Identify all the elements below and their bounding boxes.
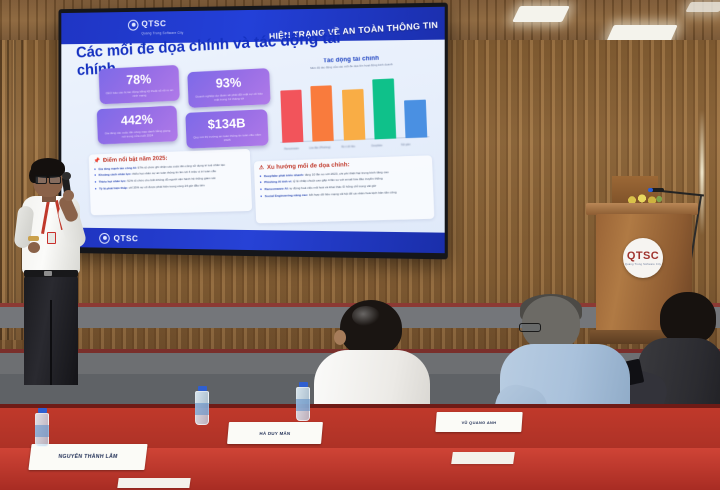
water-bottle	[195, 386, 209, 425]
chart-bar-column	[280, 78, 304, 143]
bullet-dot-icon: ●	[260, 181, 262, 186]
bullet-lead: Khoảng cách nhân lực:	[98, 172, 132, 177]
nameplate: HÀ DUY MẪN	[227, 422, 323, 444]
nameplate: VŨ QUANG ANH	[435, 412, 522, 432]
podium-badge-text: QTSC	[627, 250, 659, 262]
projection-screen: QTSC Quang Trung Software City HIỆN TRẠN…	[58, 3, 447, 260]
document-paper	[117, 478, 190, 488]
chart-bar-label: Rò rỉ dữ liệu	[335, 145, 362, 149]
footer-logo-wordmark: QTSC	[114, 233, 139, 243]
microphone-tip	[648, 188, 653, 192]
chart-bar	[372, 79, 396, 140]
wall-strip-light	[700, 110, 704, 235]
water-bottle	[296, 382, 310, 421]
ceiling-light-panel	[685, 2, 720, 12]
stat-card: $134B Quy mô thị trường an toàn thông ti…	[185, 109, 268, 148]
qtsc-logo: QTSC Quang Trung Software City	[128, 13, 184, 36]
podium-badge-subtext: Quang Trung Software City	[625, 263, 661, 266]
warning-icon: ⚠	[259, 165, 264, 171]
bullet-lead: Tỷ lệ phát hiện thấp:	[99, 186, 129, 191]
attendee-glasses-icon	[519, 323, 541, 332]
chart-bars	[280, 72, 427, 143]
stat-caption: Quy mô thị trường an toàn thông tin toàn…	[191, 132, 263, 143]
conference-room-scene: QTSC Quang Trung Software City HIỆN TRẠN…	[0, 0, 720, 490]
chart-bar-column	[403, 72, 427, 138]
chart-bar-label: Deepfake	[364, 144, 391, 148]
presenter-leg-split	[50, 300, 52, 385]
highlights-panel: 📌 Điểm nổi bật năm 2025: ●Gia tăng mạnh …	[89, 149, 252, 215]
stat-card: 442% Gia tăng các cuộc tấn công mạo danh…	[97, 106, 178, 145]
bottle-label	[35, 425, 49, 437]
bullet-lead: Phishing AI tinh vi:	[264, 180, 293, 185]
chart-bar-label: Lừa đảo (Phishing)	[307, 146, 333, 150]
bullet-lead: Deepfake phát triển nhanh:	[264, 172, 305, 177]
bottle-label	[296, 399, 310, 411]
nameplate: NGUYỄN THÀNH LÂM	[28, 444, 147, 470]
stat-caption: Gia tăng các cuộc tấn công mạo danh bằng…	[102, 128, 173, 139]
bullet-lead: Thiếu hụt nhân lực:	[99, 179, 128, 184]
bullet-lead: Gia tăng mạnh tấn công AI:	[98, 165, 137, 170]
highlights-bullet-list: ●Gia tăng mạnh tấn công AI: 57% tổ chức …	[94, 162, 246, 192]
attendee-hair-highlight	[352, 306, 380, 326]
chart-bar	[311, 85, 334, 141]
bullet-dot-icon: ●	[95, 187, 97, 192]
stat-caption: Doanh nghiệp dự đoán sẽ phải đối mặt sự …	[193, 91, 265, 103]
document-paper	[451, 452, 515, 464]
ceiling-light-panel	[512, 6, 570, 22]
chart-bar	[280, 89, 303, 143]
stat-value: 442%	[102, 112, 173, 130]
logo-ring-icon	[128, 19, 139, 30]
nameplate-name: NGUYỄN THÀNH LÂM	[58, 454, 118, 460]
chart-bar-column	[372, 73, 396, 139]
chart-bar-column	[341, 75, 365, 141]
stat-card: 78% CEO báo cáo bị tác động bằng kỹ thuậ…	[99, 65, 180, 104]
chart-bar	[341, 89, 364, 140]
bottle-body	[296, 387, 310, 421]
stat-card: 93% Doanh nghiệp dự đoán sẽ phải đối mặt…	[187, 68, 270, 108]
bullet-dot-icon: ●	[260, 187, 262, 192]
attendee-ear	[334, 330, 346, 345]
bottle-body	[195, 391, 209, 425]
nameplate-name: VŨ QUANG ANH	[461, 420, 496, 425]
water-bottle	[35, 408, 49, 447]
presenter-belt-buckle	[44, 271, 52, 276]
chart-bar	[404, 99, 427, 138]
threat-trends-panel: ⚠ Xu hướng mối đe dọa chính: ●Deepfake p…	[254, 155, 435, 223]
chart-bar-label: Ransomware	[279, 147, 305, 151]
slide-footer-bar: QTSC	[61, 227, 444, 253]
bullet-dot-icon: ●	[94, 180, 96, 185]
stat-value: $134B	[190, 115, 263, 133]
attendee-head	[660, 292, 716, 344]
bottle-body	[35, 413, 49, 447]
bullet-lead: Social Engineering nâng cao:	[265, 193, 309, 198]
footer-logo-ring-icon	[99, 232, 109, 243]
logo-tagline: Quang Trung Software City	[141, 31, 183, 36]
wall-left-column	[0, 40, 26, 340]
bullet-lead: Ransomware AI:	[264, 187, 289, 192]
stat-value: 78%	[104, 71, 175, 89]
presenter-glasses-icon	[35, 175, 61, 181]
highlights-heading-text: Điểm nổi bật năm 2025:	[103, 156, 168, 164]
presenter-right-hand	[63, 190, 74, 201]
bar-chart: Tác động tài chính Mức độ tác động của c…	[275, 53, 432, 153]
presenter-left-hand	[28, 242, 40, 253]
nameplate-name: HÀ DUY MẪN	[259, 431, 290, 436]
presentation-slide: QTSC Quang Trung Software City HIỆN TRẠN…	[61, 7, 444, 253]
stat-caption: CEO báo cáo bị tác động bằng kỹ thuật số…	[104, 88, 175, 100]
pin-icon: 📌	[94, 158, 101, 164]
presenter-watch	[28, 236, 39, 241]
podium-qtsc-badge: QTSC Quang Trung Software City	[623, 238, 663, 278]
bullet-dot-icon: ●	[259, 174, 261, 179]
threat-trends-bullet-list: ●Deepfake phát triển nhanh: tăng 10 lần …	[259, 168, 428, 199]
presenter-id-badge	[47, 232, 56, 244]
stat-value: 93%	[192, 74, 265, 92]
bottle-label	[195, 403, 209, 415]
threat-trends-heading-text: Xu hướng mối đe dọa chính:	[267, 162, 350, 171]
microphone-head-icon	[62, 172, 71, 180]
chart-bar-column	[310, 76, 334, 141]
bullet-dot-icon: ●	[94, 167, 96, 172]
bullet-dot-icon: ●	[94, 173, 96, 178]
chart-bar-label: Nội gián	[392, 143, 419, 147]
logo-wordmark: QTSC	[141, 18, 166, 28]
bullet-dot-icon: ●	[260, 194, 262, 199]
